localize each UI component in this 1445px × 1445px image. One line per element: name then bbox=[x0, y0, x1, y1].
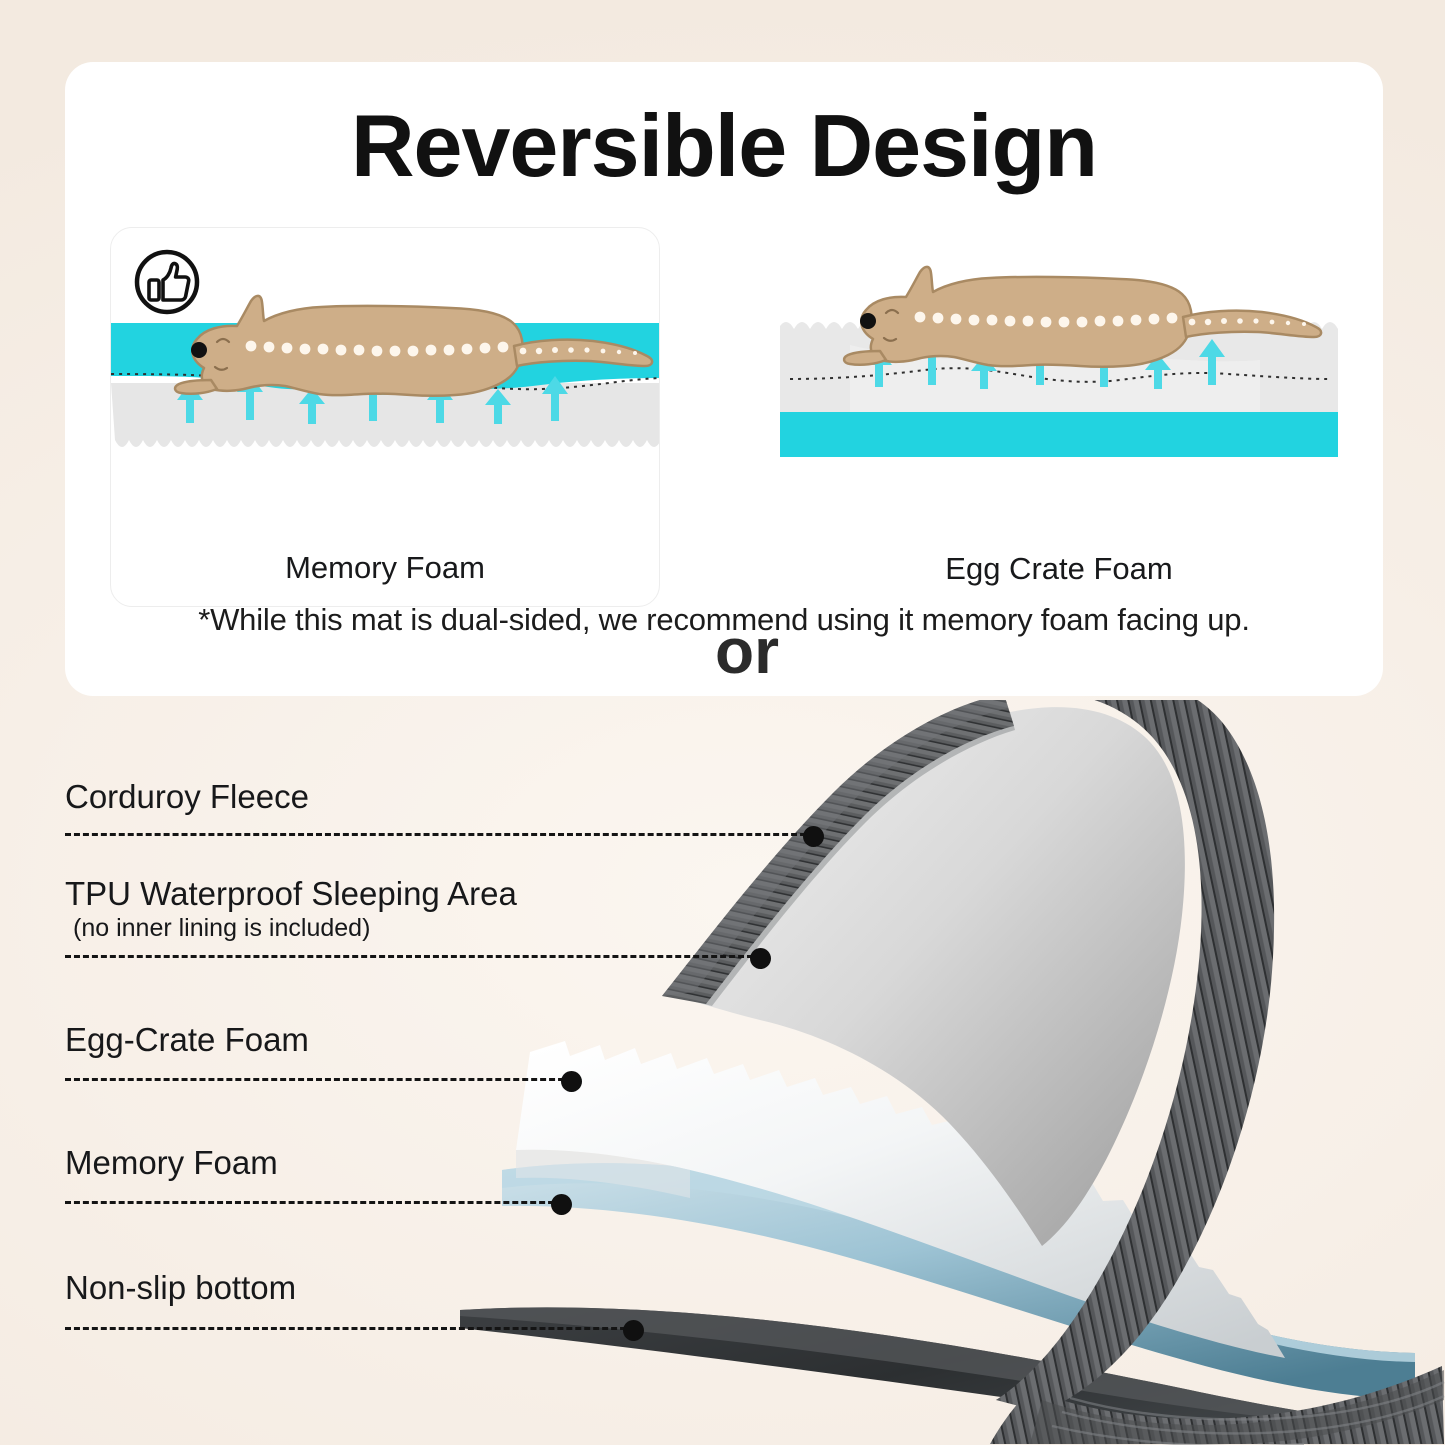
callout-label: TPU Waterproof Sleeping Area bbox=[65, 876, 517, 913]
egg-crate-illustration bbox=[780, 227, 1338, 522]
leader-line-memory-foam bbox=[65, 1201, 563, 1204]
callout-egg-crate-foam: Egg-Crate Foam bbox=[65, 1022, 309, 1059]
leader-line-corduroy-fleece bbox=[65, 833, 815, 836]
callout-label: Corduroy Fleece bbox=[65, 779, 309, 816]
product-exploded-photo bbox=[430, 700, 1445, 1445]
leader-dot bbox=[803, 826, 824, 847]
page-title: Reversible Design bbox=[65, 102, 1383, 190]
callout-sublabel: (no inner lining is included) bbox=[65, 913, 517, 943]
thumbs-up-icon bbox=[133, 248, 201, 316]
reversible-design-card: Reversible Design bbox=[65, 62, 1383, 696]
callout-label: Memory Foam bbox=[65, 1145, 278, 1182]
egg-crate-scene bbox=[780, 227, 1338, 522]
footnote-text: *While this mat is dual-sided, we recomm… bbox=[65, 602, 1383, 638]
leader-dot bbox=[561, 1071, 582, 1092]
callout-tpu-waterproof: TPU Waterproof Sleeping Area (no inner l… bbox=[65, 876, 517, 943]
egg-crate-foam-label: Egg Crate Foam bbox=[780, 551, 1338, 587]
callout-memory-foam: Memory Foam bbox=[65, 1145, 278, 1182]
callout-non-slip-bottom: Non-slip bottom bbox=[65, 1270, 296, 1307]
leader-dot bbox=[750, 948, 771, 969]
panel-egg-crate-foam: Egg Crate Foam bbox=[780, 227, 1338, 607]
callout-label: Egg-Crate Foam bbox=[65, 1022, 309, 1059]
callout-corduroy-fleece: Corduroy Fleece bbox=[65, 779, 309, 816]
infographic-page: Reversible Design bbox=[0, 0, 1445, 1445]
panel-memory-foam: Memory Foam bbox=[110, 227, 660, 607]
leader-line-non-slip-bottom bbox=[65, 1327, 635, 1330]
comparison-panels: Memory Foam bbox=[65, 227, 1383, 607]
leader-line-tpu-waterproof bbox=[65, 955, 762, 958]
callout-label: Non-slip bottom bbox=[65, 1270, 296, 1307]
leader-dot bbox=[551, 1194, 572, 1215]
memory-foam-label: Memory Foam bbox=[111, 550, 659, 586]
leader-dot bbox=[623, 1320, 644, 1341]
leader-line-egg-crate-foam bbox=[65, 1078, 573, 1081]
